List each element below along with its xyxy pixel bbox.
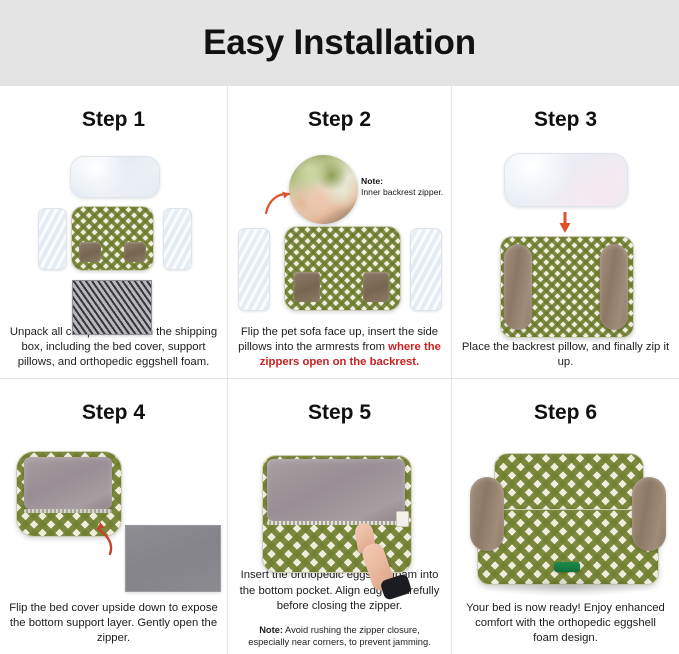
armrest-left	[504, 244, 532, 330]
cover-pocket-right	[124, 242, 146, 262]
caption-text-3: Place the backrest pillow, and finally z…	[462, 341, 669, 368]
caption-text-6: Your bed is now ready! Enjoy enhanced co…	[466, 602, 665, 644]
step-6-illustration	[452, 425, 679, 601]
step-caption-2: Flip the pet sofa face up, insert the si…	[228, 325, 451, 378]
armrest-opening-right	[363, 272, 389, 302]
step-caption-6: Your bed is now ready! Enjoy enhanced co…	[452, 601, 679, 654]
foam-top-panel	[267, 459, 405, 521]
zipper-pull	[396, 511, 409, 527]
side-pillow-right	[410, 228, 442, 311]
note-callout-label: Note:	[361, 176, 383, 186]
caption-text-4: Flip the bed cover upside down to expose…	[9, 602, 218, 644]
step-2-illustration: Note: Inner backrest zipper.	[228, 132, 451, 325]
step-title-3: Step 3	[534, 108, 597, 132]
step-title-2: Step 2	[308, 108, 371, 132]
brand-tag	[554, 562, 580, 572]
eggshell-foam	[72, 280, 152, 335]
step-card-2: Step 2 Note: Inner backrest zipper.	[228, 86, 452, 379]
step-card-1: Step 1 Unpack all components from the sh…	[0, 86, 228, 379]
step-caption-3: Place the backrest pillow, and finally z…	[452, 340, 679, 378]
step-card-3: Step 3 Place the backrest pillow, and fi…	[452, 86, 679, 379]
step-card-6: Step 6 Your bed is now ready! Enjoy enha…	[452, 379, 679, 654]
step-title-5: Step 5	[308, 401, 371, 425]
armrest-left	[470, 477, 504, 551]
step-note-label-5: Note:	[259, 625, 283, 635]
bottom-support-layer	[24, 457, 112, 509]
side-pillow-right	[163, 208, 192, 270]
page-title: Easy Installation	[203, 23, 476, 63]
curved-arrow-icon	[263, 187, 293, 217]
armrest-right	[632, 477, 666, 551]
steps-grid: Step 1 Unpack all components from the sh…	[0, 86, 679, 654]
header-band: Easy Installation	[0, 0, 679, 86]
step-1-illustration	[0, 132, 227, 325]
armrest-right	[600, 244, 628, 330]
drop-shadow	[482, 577, 652, 597]
step-caption-5: Insert the orthopedic eggshell foam into…	[228, 568, 451, 621]
zipper-closeup-photo	[289, 155, 358, 224]
sofa-backrest	[494, 453, 644, 517]
zipper-line	[267, 521, 405, 525]
backrest-pillow	[504, 153, 628, 207]
step-5-illustration	[228, 425, 451, 568]
step-title-4: Step 4	[82, 401, 145, 425]
backrest-pillow	[70, 156, 160, 198]
note-callout: Note: Inner backrest zipper.	[361, 176, 443, 198]
step-3-illustration	[452, 132, 679, 340]
side-pillow-left	[38, 208, 67, 270]
step-title-1: Step 1	[82, 108, 145, 132]
step-card-4: Step 4 Flip the bed cover upside down to…	[0, 379, 228, 654]
curved-arrow-icon	[90, 521, 118, 555]
step-4-illustration	[0, 425, 227, 601]
step-title-6: Step 6	[534, 401, 597, 425]
arrow-down-icon	[558, 212, 572, 234]
installation-infographic: Easy Installation Step 1 Unpack all	[0, 0, 679, 654]
side-pillow-left	[238, 228, 270, 311]
foam-sheet	[125, 525, 221, 592]
cover-pocket-left	[79, 242, 101, 262]
step-card-5: Step 5 Insert the orthopedic eggshell fo…	[228, 379, 452, 654]
step-note-5: Note: Avoid rushing the zipper closure, …	[228, 622, 451, 654]
armrest-opening-left	[294, 272, 320, 302]
note-callout-text: Inner backrest zipper.	[361, 187, 443, 197]
step-caption-4: Flip the bed cover upside down to expose…	[0, 601, 227, 654]
zipper-line	[24, 509, 112, 513]
